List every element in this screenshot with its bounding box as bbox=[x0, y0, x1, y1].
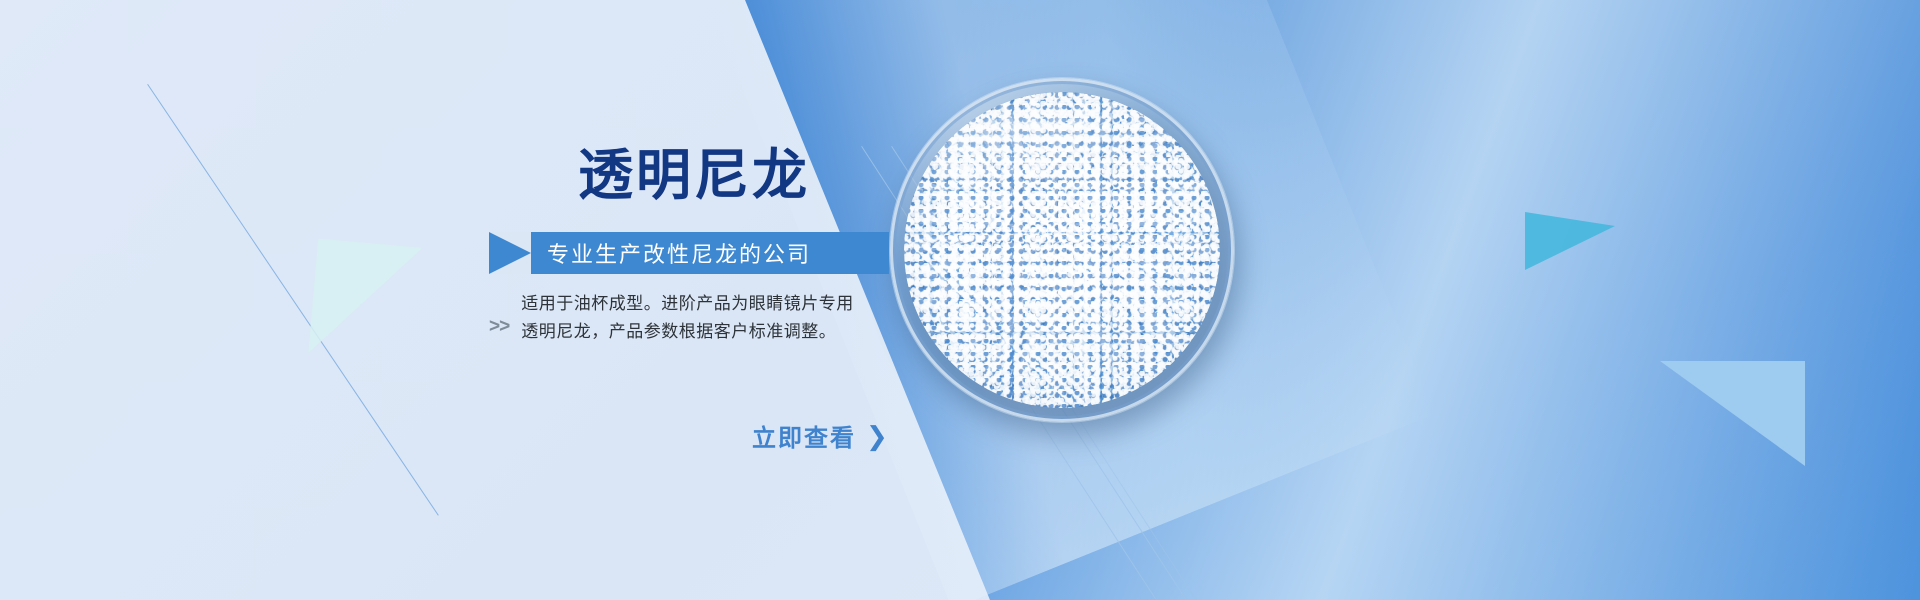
decor-triangle-light-blue bbox=[1648, 361, 1805, 466]
hero-banner: 透明尼龙 专业生产改性尼龙的公司 >> 适用于油杯成型。进阶产品为眼睛镜片专用 … bbox=[0, 0, 1920, 600]
nylon-pellets-layer-2 bbox=[904, 92, 1220, 408]
description-text: 适用于油杯成型。进阶产品为眼睛镜片专用 透明尼龙，产品参数根据客户标准调整。 bbox=[521, 290, 854, 346]
view-now-label: 立即查看 bbox=[752, 418, 856, 453]
description-block: >> 适用于油杯成型。进阶产品为眼睛镜片专用 透明尼龙，产品参数根据客户标准调整… bbox=[489, 290, 854, 346]
decor-triangle-pale-cyan bbox=[308, 239, 423, 363]
view-now-button[interactable]: 立即查看 ❯ bbox=[752, 418, 890, 453]
page-title: 透明尼龙 bbox=[578, 148, 810, 203]
double-chevron-icon: >> bbox=[489, 301, 509, 336]
product-image-petri-dish bbox=[890, 78, 1234, 422]
ribbon-arrow-notch-icon bbox=[489, 232, 531, 274]
dish-interior bbox=[904, 92, 1220, 408]
decor-triangle-teal bbox=[1525, 212, 1615, 270]
subtitle-ribbon: 专业生产改性尼龙的公司 bbox=[489, 232, 889, 274]
subtitle-ribbon-label: 专业生产改性尼龙的公司 bbox=[547, 237, 811, 269]
chevron-right-icon: ❯ bbox=[866, 423, 890, 449]
